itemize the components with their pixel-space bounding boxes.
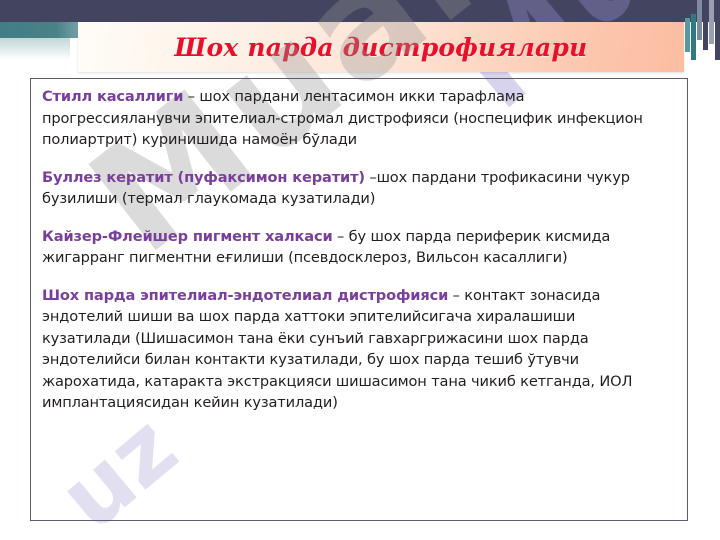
paragraph-4: Шох парда эпителиал-эндотелиал дистрофия… (42, 285, 664, 414)
page-title: Шох парда дистрофиялари (175, 33, 588, 62)
paragraph-2: Буллез кератит (пуфаксимон кератит) –шох… (42, 167, 664, 210)
slide-canvas: Muallif.uz Шох парда дистрофиялари Muall… (0, 0, 720, 540)
slide-title-banner: Шох парда дистрофиялари (78, 22, 684, 72)
paragraph-4-text: – контакт зонасида эндотелий шиши ва шох… (42, 287, 632, 412)
paragraph-1: Стилл касаллиги – шох пардани лентасимон… (42, 86, 664, 151)
top-navy-band (0, 0, 720, 22)
paragraph-3: Кайзер-Флейшер пигмент халкаси – бу шох … (42, 226, 664, 269)
paragraph-2-lead: Буллез кератит (пуфаксимон кератит) (42, 169, 365, 186)
paragraph-1-lead: Стилл касаллиги (42, 88, 183, 105)
content-body: Стилл касаллиги – шох пардани лентасимон… (42, 86, 664, 516)
paragraph-4-lead: Шох парда эпителиал-эндотелиал дистрофия… (42, 287, 448, 304)
teal-left-fade (0, 38, 70, 60)
paragraph-3-lead: Кайзер-Флейшер пигмент халкаси (42, 228, 333, 245)
